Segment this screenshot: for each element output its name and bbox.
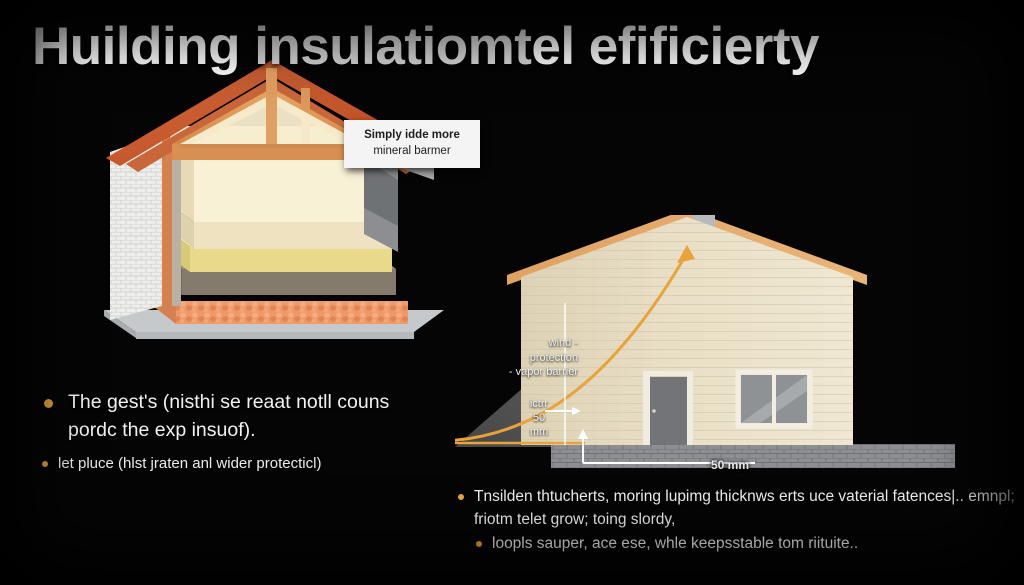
grey-screed-front (182, 269, 396, 295)
bullet-left-sub: let pluce (hlst jraten anl wider protect… (34, 453, 414, 474)
page-title-part1: Huilding (32, 17, 254, 76)
page-title-part3: el efificierty (531, 17, 819, 76)
window-mullion (772, 372, 776, 426)
bullet-dot-icon (44, 399, 53, 408)
bullet-right-main-text: Tnsilden thtucherts, moring lupimg thick… (474, 488, 1015, 528)
gable-center-post (266, 94, 277, 144)
callout-line-1: Simply idde more (350, 128, 474, 144)
wind-label-line1: wind - (470, 336, 578, 351)
bullet-right-sub: loopls sauper, ace ese, whle keepsstable… (452, 533, 1018, 556)
orange-aggregate-front (176, 301, 408, 324)
bullet-left-main: The gest's (nisthi se reaat notll couns … (34, 388, 414, 445)
bullet-right-sub-text: loopls sauper, ace ese, whle keepsstable… (492, 535, 858, 552)
base-slab-front (136, 332, 414, 339)
bullet-dot-icon (42, 461, 48, 467)
callout-line-2: mineral barmer (350, 144, 474, 160)
bullet-list-right: Tnsilden thtucherts, moring lupimg thick… (452, 486, 1018, 556)
bullet-dot-icon (476, 541, 482, 547)
thickness-label-line1: ictrr (500, 398, 578, 412)
bullet-right-main: Tnsilden thtucherts, moring lupimg thick… (452, 486, 1018, 531)
yellow-insulation-front (190, 247, 392, 272)
callout-box[interactable]: Simply idde more mineral barmer (344, 120, 480, 168)
wind-label-line2: protection (470, 351, 578, 366)
door-frame-left (643, 374, 650, 445)
cutaway-house-illustration (96, 48, 456, 348)
dimension-label: 50 mm (690, 458, 770, 474)
slide-canvas: Huilding insulatiomtel efificierty (0, 0, 1024, 585)
thickness-label-line3: mm (500, 426, 578, 440)
bullet-list-left: The gest's (nisthi se reaat notll couns … (34, 388, 414, 474)
door-handle (652, 409, 656, 413)
gable-bottom-edge (180, 144, 364, 148)
bullet-left-main-text: The gest's (nisthi se reaat notll couns … (68, 391, 389, 441)
orange-render-strip (162, 134, 172, 306)
page-title-part2: insulatiomt (254, 17, 531, 76)
cutaway-house-svg (96, 48, 456, 348)
wind-protection-label: wind - protection - vapor barrier (470, 336, 578, 380)
page-title: Huilding insulatiomtel efificierty (32, 16, 1002, 77)
wind-label-line3: - vapor barrier (470, 365, 578, 380)
door-frame-right (687, 374, 693, 445)
bullet-dot-icon (458, 494, 464, 500)
wall-stud-left (172, 138, 181, 306)
thickness-label: ictrr 50 mm (500, 398, 578, 439)
thickness-label-line2: 50 (500, 412, 578, 426)
door-header (643, 371, 693, 376)
bullet-left-sub-text: let pluce (hlst jraten anl wider protect… (58, 455, 321, 472)
